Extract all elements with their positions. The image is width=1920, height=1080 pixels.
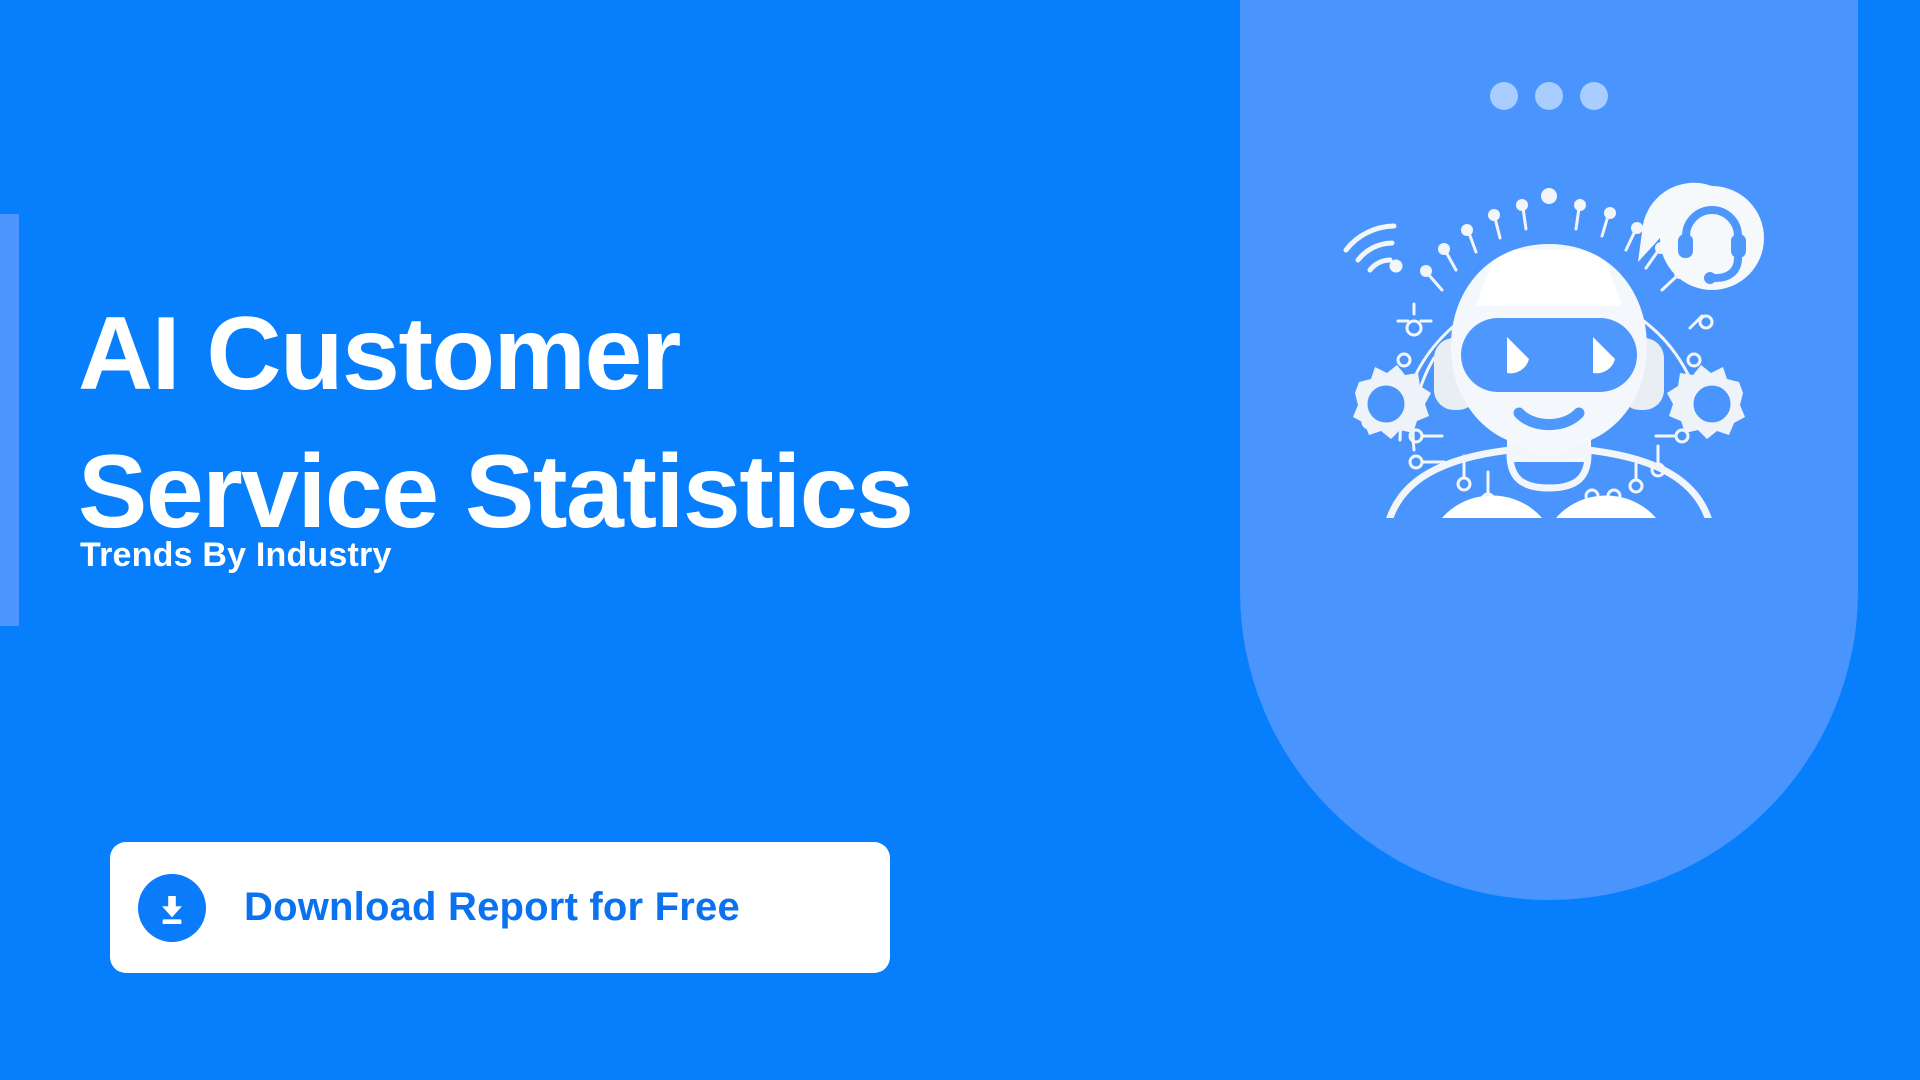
dots-row bbox=[1490, 82, 1608, 110]
download-circle-icon bbox=[138, 874, 206, 942]
illustration-panel bbox=[1240, 0, 1858, 900]
left-accent-strip bbox=[0, 214, 19, 626]
wifi-signal-icon bbox=[1346, 226, 1394, 270]
ai-support-robot-illustration bbox=[1314, 178, 1784, 518]
robot-shoulder-left bbox=[1442, 496, 1542, 519]
dot-1 bbox=[1490, 82, 1518, 110]
download-report-button[interactable]: Download Report for Free bbox=[110, 842, 890, 973]
robot-head-facet bbox=[1476, 250, 1622, 306]
headset-speech-bubble bbox=[1638, 183, 1764, 290]
dot-2 bbox=[1535, 82, 1563, 110]
wifi-dot-icon bbox=[1390, 260, 1403, 273]
dot-3 bbox=[1580, 82, 1608, 110]
robot-shoulder-right bbox=[1556, 496, 1656, 519]
hero-banner: AI Customer Service Statistics Trends By… bbox=[0, 0, 1920, 1080]
download-report-label: Download Report for Free bbox=[244, 885, 740, 930]
robot-body bbox=[1388, 446, 1710, 518]
page-subtitle: Trends By Industry bbox=[80, 536, 392, 575]
circuit-node-top bbox=[1541, 188, 1557, 204]
page-title: AI Customer Service Statistics bbox=[78, 285, 1258, 561]
